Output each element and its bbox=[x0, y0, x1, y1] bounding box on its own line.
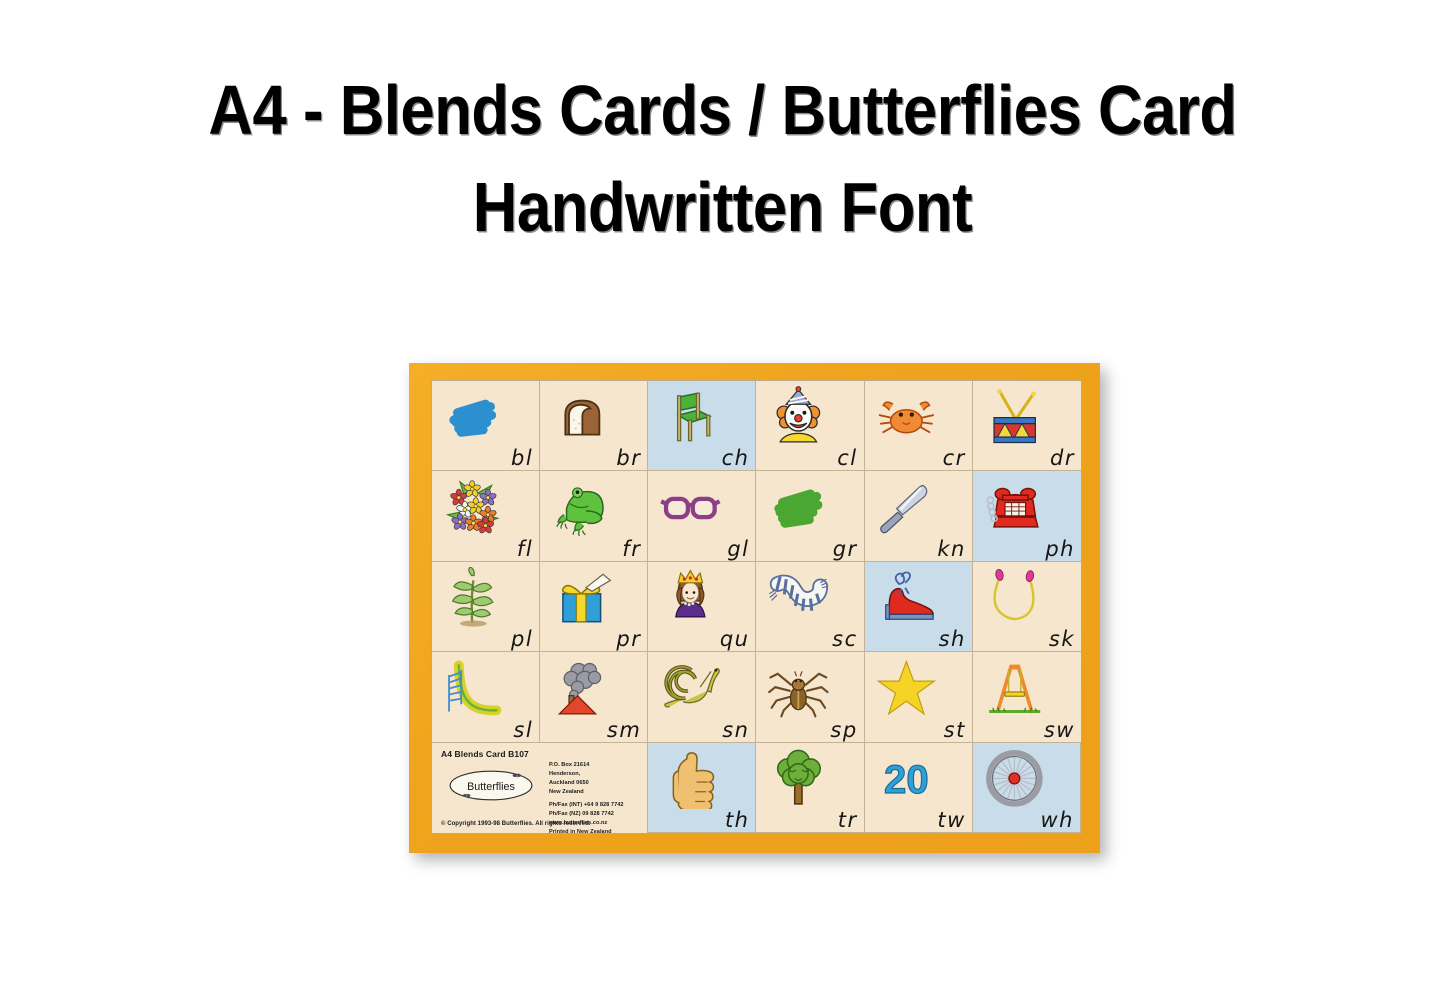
blend-cell-st: st bbox=[865, 652, 973, 742]
copyright-notice: © Copyright 1993-98 Butterflies. All rig… bbox=[441, 821, 591, 827]
blend-label-st: st bbox=[944, 720, 966, 741]
blend-cell-qu: qu bbox=[648, 562, 756, 652]
blend-label-ph: ph bbox=[1045, 539, 1075, 560]
blend-label-sc: sc bbox=[832, 629, 858, 650]
shoe-icon bbox=[871, 567, 942, 628]
blend-cell-kn: kn bbox=[865, 471, 973, 561]
address-line: Henderson, bbox=[549, 771, 580, 777]
contact-line: Printed in New Zealand bbox=[549, 829, 612, 833]
knife-icon bbox=[871, 477, 942, 538]
blend-label-dr: dr bbox=[1050, 448, 1075, 469]
blend-label-sp: sp bbox=[830, 720, 857, 741]
blend-label-sh: sh bbox=[939, 629, 966, 650]
tree-icon bbox=[763, 748, 834, 809]
blend-cell-tw: 20tw bbox=[865, 743, 973, 833]
blend-label-sk: sk bbox=[1049, 629, 1075, 650]
scarf-icon bbox=[763, 567, 834, 628]
snail-icon bbox=[655, 658, 726, 719]
title-line-1: A4 - Blends Cards / Butterflies Card bbox=[87, 62, 1359, 159]
blend-label-fr: fr bbox=[622, 539, 641, 560]
plant-icon bbox=[438, 567, 509, 628]
blend-label-gr: gr bbox=[833, 539, 858, 560]
present-icon bbox=[547, 567, 618, 628]
blend-cell-fl: fl bbox=[432, 471, 540, 561]
card-info-block: A4 Blends Card B107ButterfliesP.O. Box 2… bbox=[432, 743, 648, 833]
green-scribble-icon bbox=[763, 477, 834, 538]
blend-label-cr: cr bbox=[943, 448, 966, 469]
crab-icon bbox=[871, 386, 942, 447]
blend-cell-sl: sl bbox=[432, 652, 540, 742]
title-line-2: Handwritten Font bbox=[87, 159, 1359, 256]
blend-cell-sw: sw bbox=[973, 652, 1081, 742]
contact-line: Ph/Fax (NZ) 09 828 7742 bbox=[549, 811, 614, 817]
butterflies-logo: Butterflies bbox=[448, 769, 534, 802]
blend-cell-ph: ph bbox=[973, 471, 1081, 561]
blend-cell-th: th bbox=[648, 743, 756, 833]
bread-icon bbox=[547, 386, 618, 447]
blue-scribble-icon bbox=[438, 386, 509, 447]
glasses-icon bbox=[655, 477, 726, 538]
star-icon bbox=[871, 658, 942, 719]
address-line: Auckland 0650 bbox=[549, 780, 589, 786]
blend-label-qu: qu bbox=[720, 629, 750, 650]
svg-text:Butterflies: Butterflies bbox=[467, 780, 515, 792]
blend-label-sl: sl bbox=[513, 720, 533, 741]
blends-grid: blbrchclcrdrflfrglgrknphplprquscshskslsm… bbox=[431, 380, 1082, 834]
blend-cell-dr: dr bbox=[973, 381, 1081, 471]
blend-cell-gl: gl bbox=[648, 471, 756, 561]
card-code-label: A4 Blends Card B107 bbox=[441, 749, 529, 759]
blend-label-tr: tr bbox=[838, 810, 858, 831]
blend-label-kn: kn bbox=[937, 539, 965, 560]
blend-label-cl: cl bbox=[837, 448, 857, 469]
blend-cell-fr: fr bbox=[540, 471, 648, 561]
blend-label-sw: sw bbox=[1044, 720, 1075, 741]
address-line: P.O. Box 21614 bbox=[549, 762, 589, 768]
blend-label-ch: ch bbox=[722, 448, 750, 469]
frog-icon bbox=[547, 477, 618, 538]
blend-label-pr: pr bbox=[616, 629, 641, 650]
queen-icon bbox=[655, 567, 726, 628]
flowers-icon bbox=[438, 477, 509, 538]
blend-cell-pl: pl bbox=[432, 562, 540, 652]
blend-cell-sk: sk bbox=[973, 562, 1081, 652]
blend-label-sn: sn bbox=[722, 720, 749, 741]
blend-cell-br: br bbox=[540, 381, 648, 471]
blend-cell-gr: gr bbox=[756, 471, 864, 561]
blend-cell-bl: bl bbox=[432, 381, 540, 471]
blend-cell-sm: sm bbox=[540, 652, 648, 742]
blend-label-wh: wh bbox=[1040, 810, 1074, 831]
smoke-icon bbox=[547, 658, 618, 719]
blend-label-th: th bbox=[725, 810, 750, 831]
contact-line: Ph/Fax (INT) +64 9 828 7742 bbox=[549, 802, 624, 808]
thumb-icon bbox=[655, 748, 726, 809]
blend-cell-tr: tr bbox=[756, 743, 864, 833]
blend-label-br: br bbox=[616, 448, 641, 469]
blend-cell-ch: ch bbox=[648, 381, 756, 471]
slide-icon bbox=[438, 658, 509, 719]
blend-cell-cl: cl bbox=[756, 381, 864, 471]
blend-cell-cr: cr bbox=[865, 381, 973, 471]
blend-label-gl: gl bbox=[727, 539, 749, 560]
address-line: New Zealand bbox=[549, 789, 584, 795]
chair-icon bbox=[655, 386, 726, 447]
blend-label-sm: sm bbox=[607, 720, 641, 741]
blend-label-bl: bl bbox=[511, 448, 533, 469]
blend-cell-pr: pr bbox=[540, 562, 648, 652]
blend-cell-sc: sc bbox=[756, 562, 864, 652]
blend-label-fl: fl bbox=[517, 539, 533, 560]
skipping-rope-icon bbox=[979, 567, 1050, 628]
swing-icon bbox=[979, 658, 1050, 719]
spider-icon bbox=[763, 658, 834, 719]
blend-cell-wh: wh bbox=[973, 743, 1081, 833]
drum-icon bbox=[979, 386, 1050, 447]
twenty-number-icon: 20 bbox=[871, 748, 942, 809]
blend-cell-sh: sh bbox=[865, 562, 973, 652]
svg-text:20: 20 bbox=[884, 758, 929, 802]
blend-cell-sn: sn bbox=[648, 652, 756, 742]
slide-title: A4 - Blends Cards / Butterflies Card Han… bbox=[0, 62, 1445, 255]
blend-label-tw: tw bbox=[937, 810, 965, 831]
blend-label-pl: pl bbox=[511, 629, 533, 650]
blends-card-photo: blbrchclcrdrflfrglgrknphplprquscshskslsm… bbox=[409, 363, 1100, 853]
wheel-icon bbox=[979, 748, 1050, 809]
telephone-icon bbox=[979, 477, 1050, 538]
clown-icon bbox=[763, 386, 834, 447]
blend-cell-sp: sp bbox=[756, 652, 864, 742]
